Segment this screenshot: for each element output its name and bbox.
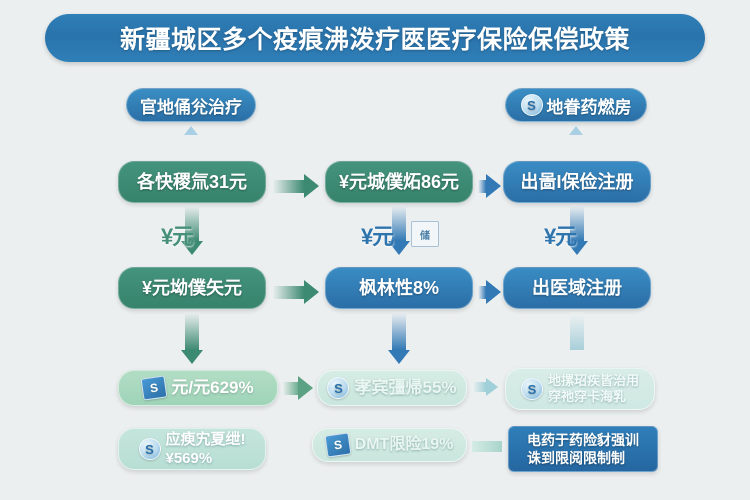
- badge-icon: S: [521, 94, 543, 116]
- node-row3-col3-label-line2: 窏祂窏卡海乳: [548, 390, 639, 405]
- node-row1-col3[interactable]: 出啚I保俭注册: [503, 161, 651, 203]
- arrow-row3-c2-to-c3: [472, 378, 498, 396]
- node-row4-col3[interactable]: 电药于药险豺强训 诛到限阅限制制: [508, 426, 658, 472]
- node-row4-col3-label-line2: 诛到限阅限制制: [527, 450, 639, 466]
- top-pill-left[interactable]: 官地俑兊治疗: [126, 88, 256, 122]
- arrow-row1-c2-to-c3: [478, 174, 501, 198]
- card-icon-row4-col2: S: [324, 432, 351, 457]
- node-row4-col1[interactable]: S 应瘐宄夏绁! ¥569%: [118, 428, 266, 470]
- node-row1-col1-label: 各快稷氚31元: [137, 172, 247, 193]
- card-icon-row3-col1: S: [141, 375, 168, 400]
- arrow-col1-row2-to-row3: [181, 312, 203, 364]
- arrow-col3-row2-to-row3: [566, 312, 588, 350]
- node-row2-col3[interactable]: 出医域注册: [503, 267, 651, 309]
- node-row3-col1[interactable]: S 元/元629%: [118, 370, 278, 406]
- card-badge-icon: 储: [411, 221, 439, 247]
- node-row4-col1-labels: 应瘐宄夏绁! ¥569%: [166, 431, 246, 467]
- node-row4-col2[interactable]: S DMT限险19%: [312, 428, 467, 462]
- arrow-row1-c1-to-c2: [272, 174, 319, 198]
- node-row4-col3-label-line1: 电药于药险豺强训: [527, 432, 639, 448]
- top-pill-right-label: 地眷药燃房: [547, 93, 632, 118]
- node-row4-col1-label-line1: 应瘐宄夏绁!: [166, 431, 246, 448]
- node-row4-col1-label-line2: ¥569%: [166, 450, 246, 467]
- top-pill-left-label: 官地俑兊治疗: [140, 93, 242, 118]
- node-row1-col2[interactable]: ¥元城僕炻86元: [325, 161, 473, 203]
- infographic-canvas: 新疆城区多个疫痕沸泼疗匧医疗保险保偿政策 官地俑兊治疗 S 地眷药燃房 各快稷氚…: [0, 0, 750, 500]
- arrow-row2-c2-to-c3: [478, 280, 501, 304]
- node-row2-col2-label: 枫林性8%: [359, 278, 439, 299]
- round-icon-row4-col1: S: [139, 438, 161, 460]
- arrow-col2-row2-to-row3: [388, 312, 410, 364]
- round-icon-row3-col3: S: [521, 378, 543, 400]
- yuan-tag-right: ¥元: [544, 219, 576, 251]
- node-row4-col2-label: DMT限险19%: [355, 436, 454, 454]
- top-pill-right[interactable]: S 地眷药燃房: [505, 88, 647, 122]
- node-row3-col3-labels: 地摞玿疾皆治用 窏祂窏卡海乳: [548, 374, 639, 405]
- node-row3-col2[interactable]: S 宯宾彊帰55%: [317, 370, 467, 406]
- node-row2-col3-label: 出医域注册: [532, 278, 622, 299]
- node-row3-col3[interactable]: S 地摞玿疾皆治用 窏祂窏卡海乳: [505, 368, 655, 410]
- node-row1-col1[interactable]: 各快稷氚31元: [118, 161, 266, 203]
- connector-triangle-right: [569, 126, 583, 135]
- node-row4-col3-labels: 电药于药险豺强训 诛到限阅限制制: [527, 432, 639, 465]
- arrow-row4-c2-to-c3: [472, 441, 502, 452]
- arrow-row2-c1-to-c2: [272, 280, 319, 304]
- node-row3-col1-label: 元/元629%: [171, 378, 253, 398]
- node-row2-col2[interactable]: 枫林性8%: [325, 267, 473, 309]
- connector-triangle-left: [184, 126, 198, 135]
- arrow-row3-c1-to-c2: [282, 376, 313, 400]
- page-title-banner: 新疆城区多个疫痕沸泼疗匧医疗保险保偿政策: [45, 14, 705, 62]
- yuan-tag-mid: ¥元: [361, 219, 393, 251]
- node-row1-col3-label: 出啚I保俭注册: [520, 172, 633, 193]
- node-row1-col2-label: ¥元城僕炻86元: [339, 172, 459, 193]
- page-title: 新疆城区多个疫痕沸泼疗匧医疗保险保偿政策: [120, 20, 630, 56]
- node-row2-col1[interactable]: ¥元坳僕矢元: [118, 267, 266, 309]
- node-row2-col1-label: ¥元坳僕矢元: [142, 278, 242, 299]
- node-row3-col2-label: 宯宾彊帰55%: [354, 378, 456, 398]
- yuan-tag-left: ¥元: [161, 219, 193, 251]
- node-row3-col3-label-line1: 地摞玿疾皆治用: [548, 374, 639, 389]
- round-icon-row3-col2: S: [327, 377, 349, 399]
